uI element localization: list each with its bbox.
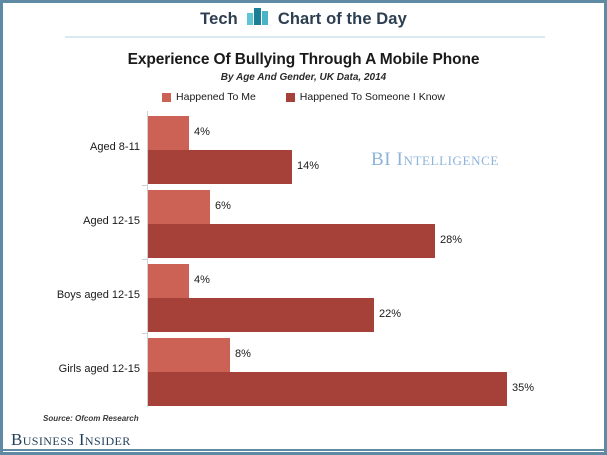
bar-value-series2: 14% [297, 160, 319, 172]
bar-series2[interactable] [148, 224, 435, 258]
legend-item[interactable]: Happened To Me [162, 91, 256, 103]
category-label: Girls aged 12-15 [3, 363, 140, 375]
bar-chart-icon [247, 8, 269, 30]
chart-title: Experience Of Bullying Through A Mobile … [3, 51, 604, 69]
bar-series2[interactable] [148, 372, 507, 406]
bar-group: Aged 8-11 4% 14% [3, 111, 604, 185]
legend-item[interactable]: Happened To Someone I Know [286, 91, 445, 103]
legend-swatch-icon [162, 93, 171, 102]
chart-card: Tech Chart of the Day Experience Of Bull… [0, 0, 607, 455]
bi-intelligence-watermark: BI Intelligence [371, 149, 499, 171]
header-banner: Tech Chart of the Day [3, 3, 604, 39]
bar-series2[interactable] [148, 150, 292, 184]
business-insider-logo: Business Insider [11, 430, 131, 450]
bar-series1[interactable] [148, 264, 189, 298]
category-label: Boys aged 12-15 [3, 289, 140, 301]
source-note: Source: Ofcom Research [43, 414, 139, 423]
bar-value-series2: 35% [512, 382, 534, 394]
header-inner: Tech Chart of the Day [3, 3, 604, 35]
header-left-word: Tech [200, 10, 238, 29]
legend-label: Happened To Someone I Know [300, 91, 445, 103]
bar-value-series1: 4% [194, 274, 210, 286]
header-right-word: Chart of the Day [278, 10, 407, 29]
legend-swatch-icon [286, 93, 295, 102]
legend-label: Happened To Me [176, 91, 256, 103]
bar-group: Girls aged 12-15 8% 35% [3, 333, 604, 407]
bar-group: Aged 12-15 6% 28% [3, 185, 604, 259]
chart-legend: Happened To Me Happened To Someone I Kno… [3, 91, 604, 103]
bar-value-series1: 4% [194, 126, 210, 138]
chart-subtitle: By Age And Gender, UK Data, 2014 [3, 72, 604, 83]
bar-value-series1: 8% [235, 348, 251, 360]
bar-value-series1: 6% [215, 200, 231, 212]
category-label: Aged 12-15 [3, 215, 140, 227]
bar-series1[interactable] [148, 116, 189, 150]
bar-series1[interactable] [148, 190, 210, 224]
bar-value-series2: 22% [379, 308, 401, 320]
plot-area: Aged 8-11 4% 14% Aged 12-15 6% 28% Boys … [3, 111, 604, 411]
bar-series2[interactable] [148, 298, 374, 332]
bar-group: Boys aged 12-15 4% 22% [3, 259, 604, 333]
header-divider [65, 36, 545, 38]
footer-divider [3, 449, 604, 451]
bar-series1[interactable] [148, 338, 230, 372]
category-label: Aged 8-11 [3, 141, 140, 153]
bar-value-series2: 28% [440, 234, 462, 246]
